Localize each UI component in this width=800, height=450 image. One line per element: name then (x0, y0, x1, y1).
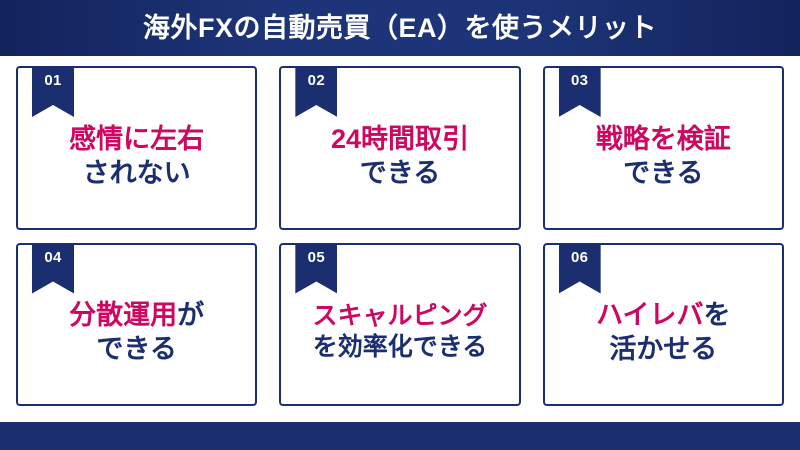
card-line-2: 活かせる (596, 332, 730, 366)
ribbon-number: 05 (308, 250, 325, 265)
card-line-2: できる (596, 156, 731, 190)
card-text: 24時間取引 できる (327, 122, 473, 190)
ribbon-badge-icon: 06 (559, 244, 601, 294)
benefit-card-02: 02 24時間取引 できる (279, 66, 520, 230)
card-line-1: スキャルピング (312, 301, 487, 333)
card-text: スキャルピング を効率化できる (308, 301, 491, 364)
ribbon-badge-icon: 03 (559, 67, 601, 117)
slide-root: 海外FXの自動売買（EA）を使うメリット 01 感情に左右 されない 02 24… (0, 0, 800, 450)
card-text: ハイレバを 活かせる (592, 298, 734, 366)
card-line-1-accent: 24時間取引 (331, 124, 469, 154)
card-text: 分散運用が できる (65, 298, 208, 366)
header-band: 海外FXの自動売買（EA）を使うメリット (0, 0, 800, 56)
card-line-2: を効率化できる (312, 332, 487, 364)
ribbon-number: 03 (571, 73, 588, 88)
card-line-1: 24時間取引 (331, 122, 469, 156)
card-text: 感情に左右 されない (65, 122, 208, 190)
footer-band (0, 422, 800, 450)
card-line-1-accent: 分散運用 (69, 300, 177, 330)
card-line-1: 戦略を検証 (596, 122, 731, 156)
card-line-1: 分散運用が (69, 298, 204, 332)
benefit-card-grid: 01 感情に左右 されない 02 24時間取引 できる 03 (16, 66, 784, 406)
card-text: 戦略を検証 できる (592, 122, 735, 190)
card-line-1: 感情に左右 (69, 122, 204, 156)
card-line-1-accent: 感情に左右 (69, 124, 204, 154)
card-line-1-accent: 戦略を検証 (596, 124, 731, 154)
ribbon-number: 06 (571, 250, 588, 265)
benefit-card-06: 06 ハイレバを 活かせる (543, 243, 784, 407)
benefit-card-05: 05 スキャルピング を効率化できる (279, 243, 520, 407)
card-line-1-navy: が (177, 300, 204, 330)
card-line-1: ハイレバを (596, 298, 730, 332)
ribbon-badge-icon: 02 (295, 67, 337, 117)
ribbon-number: 01 (44, 73, 61, 88)
page-title: 海外FXの自動売買（EA）を使うメリット (143, 15, 657, 42)
ribbon-badge-icon: 04 (32, 244, 74, 294)
ribbon-number: 04 (44, 250, 61, 265)
benefit-card-03: 03 戦略を検証 できる (543, 66, 784, 230)
card-line-1-accent: スキャルピング (312, 302, 487, 330)
ribbon-number: 02 (308, 73, 325, 88)
card-line-1-navy: を (704, 300, 731, 330)
card-line-1-accent: ハイレバ (596, 300, 703, 330)
card-line-2: できる (69, 332, 204, 366)
benefit-card-04: 04 分散運用が できる (16, 243, 257, 407)
ribbon-badge-icon: 05 (295, 244, 337, 294)
ribbon-badge-icon: 01 (32, 67, 74, 117)
card-line-2: されない (69, 156, 204, 190)
benefit-card-01: 01 感情に左右 されない (16, 66, 257, 230)
card-line-2: できる (331, 156, 469, 190)
